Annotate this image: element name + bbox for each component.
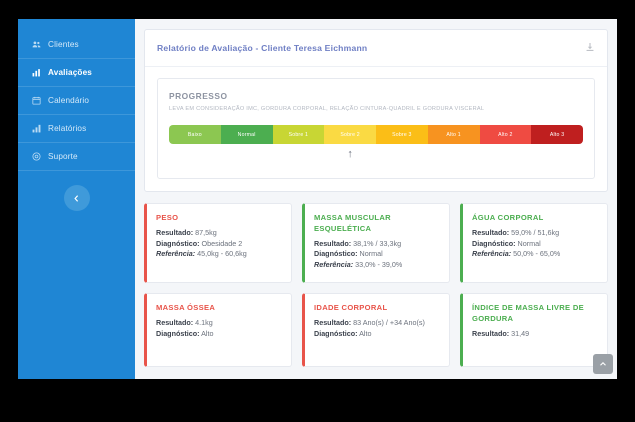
label-resultado: Resultado: (472, 329, 509, 338)
metric-resultado: Resultado: 4.1kg (156, 318, 281, 329)
progress-card: PROGRESSO LEVA EM CONSIDERAÇÃO IMC, GORD… (157, 78, 595, 179)
scale-segment-alto-3: Alto 3 (531, 125, 583, 144)
value-diagnostico: Alto (359, 329, 371, 338)
chevron-up-icon (599, 360, 607, 368)
sidebar: Clientes Avaliações Calendário (18, 19, 135, 379)
label-referencia: Referência: (472, 249, 511, 258)
value-resultado: 87,5kg (195, 228, 217, 237)
sidebar-item-label: Suporte (48, 152, 78, 161)
scale-segment-label: Baixo (188, 132, 202, 138)
metric-resultado: Resultado: 87,5kg (156, 228, 281, 239)
value-resultado: 38,1% / 33,3kg (353, 239, 401, 248)
progress-title: PROGRESSO (169, 91, 583, 101)
collapse-sidebar-button[interactable] (64, 185, 90, 211)
metric-referencia: Referência: 33,0% - 39,0% (314, 260, 439, 271)
scroll-to-top-button[interactable] (593, 354, 613, 374)
label-resultado: Resultado: (314, 239, 351, 248)
app-viewport: Clientes Avaliações Calendário (18, 19, 617, 379)
main-content: Relatório de Avaliação - Cliente Teresa … (135, 19, 617, 379)
metric-title: MASSA MUSCULAR ESQUELÉTICA (314, 213, 439, 235)
lifebuoy-icon (32, 152, 41, 161)
metric-referencia: Referência: 45,0kg - 60,6kg (156, 249, 281, 260)
metric-card-indice-massa-livre-gordura[interactable]: ÍNDICE DE MASSA LIVRE DE GORDURA Resulta… (460, 293, 608, 367)
metric-title: IDADE CORPORAL (314, 303, 439, 314)
metric-card-idade-corporal[interactable]: IDADE CORPORAL Resultado: 83 Ano(s) / +3… (302, 293, 450, 367)
label-resultado: Resultado: (314, 318, 351, 327)
label-diagnostico: Diagnóstico: (314, 329, 358, 338)
metric-diagnostico: Diagnóstico: Normal (314, 249, 439, 260)
scale-segment-baixo: Baixo (169, 125, 221, 144)
label-resultado: Resultado: (156, 228, 193, 237)
value-resultado: 59,0% / 51,6kg (511, 228, 559, 237)
scale-segment-label: Alto 3 (550, 132, 564, 138)
scale-segment-sobre-3: Sobre 3 (376, 125, 428, 144)
metric-diagnostico: Diagnóstico: Normal (472, 239, 597, 250)
progress-marker-arrow-up-icon: ↑ (347, 149, 353, 160)
scale-segment-label: Normal (238, 132, 256, 138)
metric-diagnostico: Diagnóstico: Alto (314, 329, 439, 340)
scale-segment-label: Alto 1 (446, 132, 460, 138)
metric-resultado: Resultado: 31,49 (472, 329, 597, 340)
value-resultado: 4.1kg (195, 318, 213, 327)
scale-segment-sobre-2: Sobre 2 (324, 125, 376, 144)
metric-card-peso[interactable]: PESO Resultado: 87,5kg Diagnóstico: Obes… (144, 203, 292, 283)
label-diagnostico: Diagnóstico: (314, 249, 358, 258)
value-resultado: 83 Ano(s) / +34 Ano(s) (353, 318, 425, 327)
collapse-sidebar-wrap (18, 185, 135, 211)
users-icon (32, 40, 41, 49)
label-diagnostico: Diagnóstico: (156, 329, 200, 338)
metric-resultado: Resultado: 83 Ano(s) / +34 Ano(s) (314, 318, 439, 329)
scale-segment-alto-1: Alto 1 (428, 125, 480, 144)
label-diagnostico: Diagnóstico: (156, 239, 200, 248)
page-title: Relatório de Avaliação - Cliente Teresa … (157, 43, 367, 53)
metric-referencia: Referência: 50,0% - 65,0% (472, 249, 597, 260)
scale-segment-label: Alto 2 (498, 132, 512, 138)
sidebar-item-label: Clientes (48, 40, 79, 49)
value-referencia: 33,0% - 39,0% (355, 260, 402, 269)
label-diagnostico: Diagnóstico: (472, 239, 516, 248)
metric-resultado: Resultado: 59,0% / 51,6kg (472, 228, 597, 239)
scale-segment-label: Sobre 1 (289, 132, 309, 138)
value-diagnostico: Alto (201, 329, 213, 338)
report-icon (32, 124, 41, 133)
scale-segment-label: Sobre 2 (340, 132, 360, 138)
value-referencia: 45,0kg - 60,6kg (197, 249, 247, 258)
value-referencia: 50,0% - 65,0% (513, 249, 560, 258)
scale-segment-label: Sobre 3 (392, 132, 412, 138)
download-icon[interactable] (585, 39, 595, 57)
sidebar-item-avaliacoes[interactable]: Avaliações (18, 59, 135, 87)
metric-title: ÍNDICE DE MASSA LIVRE DE GORDURA (472, 303, 597, 325)
calendar-icon (32, 96, 41, 105)
sidebar-item-calendario[interactable]: Calendário (18, 87, 135, 115)
metric-card-massa-ossea[interactable]: MASSA ÓSSEA Resultado: 4.1kg Diagnóstico… (144, 293, 292, 367)
metric-title: MASSA ÓSSEA (156, 303, 281, 314)
sidebar-item-label: Calendário (48, 96, 89, 105)
progress-marker-row: ↑ (169, 144, 583, 164)
value-diagnostico: Normal (518, 239, 541, 248)
chevron-left-icon (72, 194, 81, 203)
sidebar-item-clientes[interactable]: Clientes (18, 31, 135, 59)
sidebar-item-relatorios[interactable]: Relatórios (18, 115, 135, 143)
value-resultado: 31,49 (511, 329, 529, 338)
scale-segment-normal: Normal (221, 125, 273, 144)
label-resultado: Resultado: (472, 228, 509, 237)
report-panel: Relatório de Avaliação - Cliente Teresa … (144, 29, 608, 192)
value-diagnostico: Normal (360, 249, 383, 258)
chart-bar-icon (32, 68, 41, 77)
label-resultado: Resultado: (156, 318, 193, 327)
label-referencia: Referência: (156, 249, 195, 258)
metric-card-massa-muscular-esqueletica[interactable]: MASSA MUSCULAR ESQUELÉTICA Resultado: 38… (302, 203, 450, 283)
progress-subtitle: LEVA EM CONSIDERAÇÃO IMC, GORDURA CORPOR… (169, 106, 583, 112)
metric-title: PESO (156, 213, 281, 224)
sidebar-item-suporte[interactable]: Suporte (18, 143, 135, 171)
metric-diagnostico: Diagnóstico: Obesidade 2 (156, 239, 281, 250)
progress-scale: Baixo Normal Sobre 1 Sobre 2 Sobre 3 (169, 125, 583, 144)
sidebar-item-label: Avaliações (48, 68, 92, 77)
metric-resultado: Resultado: 38,1% / 33,3kg (314, 239, 439, 250)
report-header: Relatório de Avaliação - Cliente Teresa … (145, 30, 607, 67)
scale-segment-alto-2: Alto 2 (480, 125, 532, 144)
value-diagnostico: Obesidade 2 (202, 239, 243, 248)
scale-segment-sobre-1: Sobre 1 (273, 125, 325, 144)
sidebar-item-label: Relatórios (48, 124, 86, 133)
metric-card-agua-corporal[interactable]: ÁGUA CORPORAL Resultado: 59,0% / 51,6kg … (460, 203, 608, 283)
metric-title: ÁGUA CORPORAL (472, 213, 597, 224)
metric-diagnostico: Diagnóstico: Alto (156, 329, 281, 340)
metrics-grid: PESO Resultado: 87,5kg Diagnóstico: Obes… (144, 203, 608, 367)
label-referencia: Referência: (314, 260, 353, 269)
